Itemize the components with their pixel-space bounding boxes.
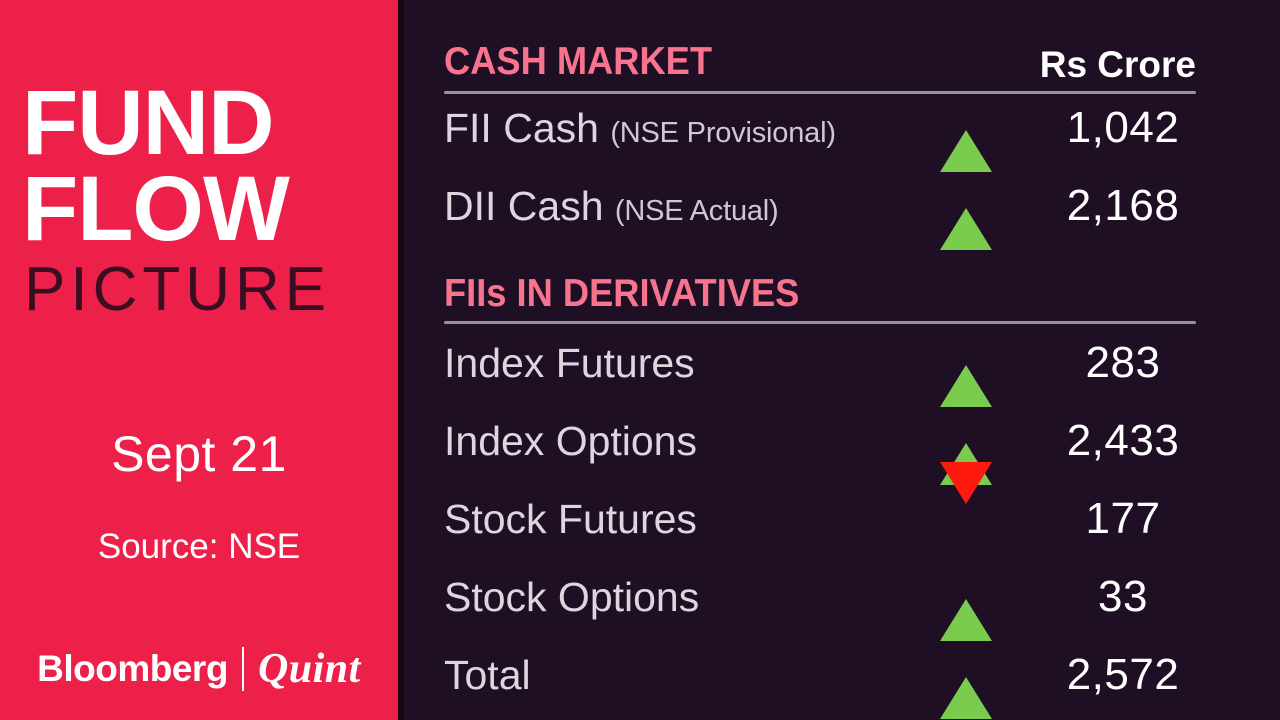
row-value: 33 <box>1010 572 1236 622</box>
source-label: Source: NSE <box>0 527 398 567</box>
publisher-logo: Bloomberg Quint <box>0 645 398 693</box>
triangle-up-icon <box>940 113 992 155</box>
row-value: 2,572 <box>1010 650 1236 700</box>
row-label: Stock Futures <box>444 496 697 543</box>
title-line-flow: FLOW <box>22 166 382 252</box>
triangle-up-icon <box>940 348 992 390</box>
data-panel: CASH MARKET Rs Crore FII Cash (NSE Provi… <box>404 0 1280 720</box>
section-title-fiis-derivatives: FIIs IN DERIVATIVES <box>444 272 799 316</box>
triangle-up-icon <box>940 191 992 233</box>
triangle-up-icon <box>940 582 992 624</box>
logo-quint-text: Quint <box>258 645 361 693</box>
row-value: 177 <box>1010 494 1236 544</box>
table-row: Index Options 2,433 <box>444 418 1196 474</box>
row-value: 283 <box>1010 338 1236 388</box>
row-sublabel: (NSE Provisional) <box>610 117 835 149</box>
row-label: Total <box>444 652 531 699</box>
unit-label: Rs Crore <box>1040 44 1196 86</box>
title-block: FUND FLOW PICTURE <box>22 80 382 321</box>
section-title-cash-market: CASH MARKET <box>444 40 712 84</box>
branding-panel: FUND FLOW PICTURE Sept 21 Source: NSE Bl… <box>0 0 398 720</box>
title-line-picture: PICTURE <box>24 259 382 321</box>
table-row: Stock Options 33 <box>444 574 1196 630</box>
row-label: Stock Options <box>444 574 699 621</box>
logo-separator-icon <box>242 647 244 691</box>
triangle-down-icon <box>940 504 992 546</box>
row-value: 2,168 <box>1010 181 1236 231</box>
table-row: Index Futures 283 <box>444 340 1196 396</box>
logo-bloomberg-text: Bloomberg <box>37 648 228 690</box>
row-label: DII Cash (NSE Actual) <box>444 183 779 230</box>
row-value: 2,433 <box>1010 416 1236 466</box>
table-row: FII Cash (NSE Provisional) 1,042 <box>444 105 1196 161</box>
section-header-cash-market: CASH MARKET Rs Crore <box>444 40 1196 84</box>
table-row: DII Cash (NSE Actual) 2,168 <box>444 183 1196 239</box>
table-row: Stock Futures 177 <box>444 496 1196 552</box>
triangle-up-icon <box>940 660 992 702</box>
row-label: Index Futures <box>444 340 695 387</box>
row-label: FII Cash (NSE Provisional) <box>444 105 836 152</box>
section-rule-fiis-derivatives <box>444 321 1196 324</box>
row-label: Index Options <box>444 418 697 465</box>
table-row: Total 2,572 <box>444 652 1196 708</box>
date-label: Sept 21 <box>0 425 398 483</box>
title-line-fund: FUND <box>22 80 382 166</box>
row-value: 1,042 <box>1010 103 1236 153</box>
section-rule-cash-market <box>444 91 1196 94</box>
fund-flow-infographic: FUND FLOW PICTURE Sept 21 Source: NSE Bl… <box>0 0 1280 720</box>
section-header-fiis-derivatives: FIIs IN DERIVATIVES <box>444 272 1196 316</box>
row-sublabel: (NSE Actual) <box>615 195 779 227</box>
